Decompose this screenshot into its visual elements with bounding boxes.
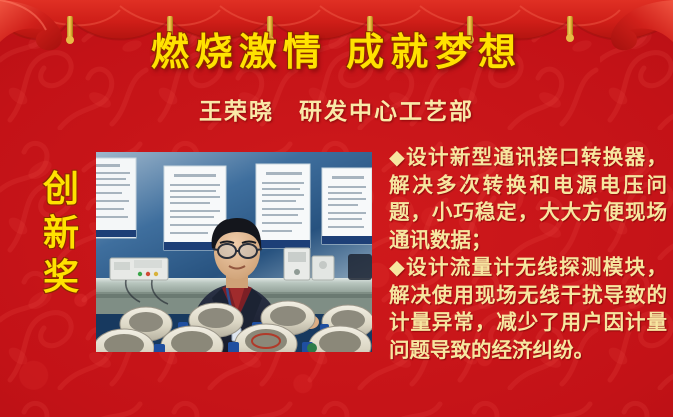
award-label-vertical: 创 新 奖 bbox=[40, 168, 82, 300]
award-char-2: 新 bbox=[40, 212, 82, 256]
achievement-item-2: ◆设计流量计无线探测模块，解决使用现场无线干扰导致的计量异常，减少了用户因计量问… bbox=[389, 254, 667, 364]
award-char-1: 创 bbox=[40, 168, 82, 212]
portrait-photo bbox=[96, 152, 372, 352]
award-slide: 燃烧激情 成就梦想 王荣晓 研发中心工艺部 创 新 奖 bbox=[0, 0, 673, 417]
achievement-item-1: ◆设计新型通讯接口转换器，解决多次转换和电源电压问题，小巧稳定，大大方便现场通讯… bbox=[389, 144, 667, 254]
award-char-3: 奖 bbox=[40, 256, 82, 300]
page-title: 燃烧激情 成就梦想 bbox=[0, 30, 673, 74]
subtitle-name-department: 王荣晓 研发中心工艺部 bbox=[0, 97, 673, 127]
achievements-list: ◆设计新型通讯接口转换器，解决多次转换和电源电压问题，小巧稳定，大大方便现场通讯… bbox=[389, 144, 667, 364]
